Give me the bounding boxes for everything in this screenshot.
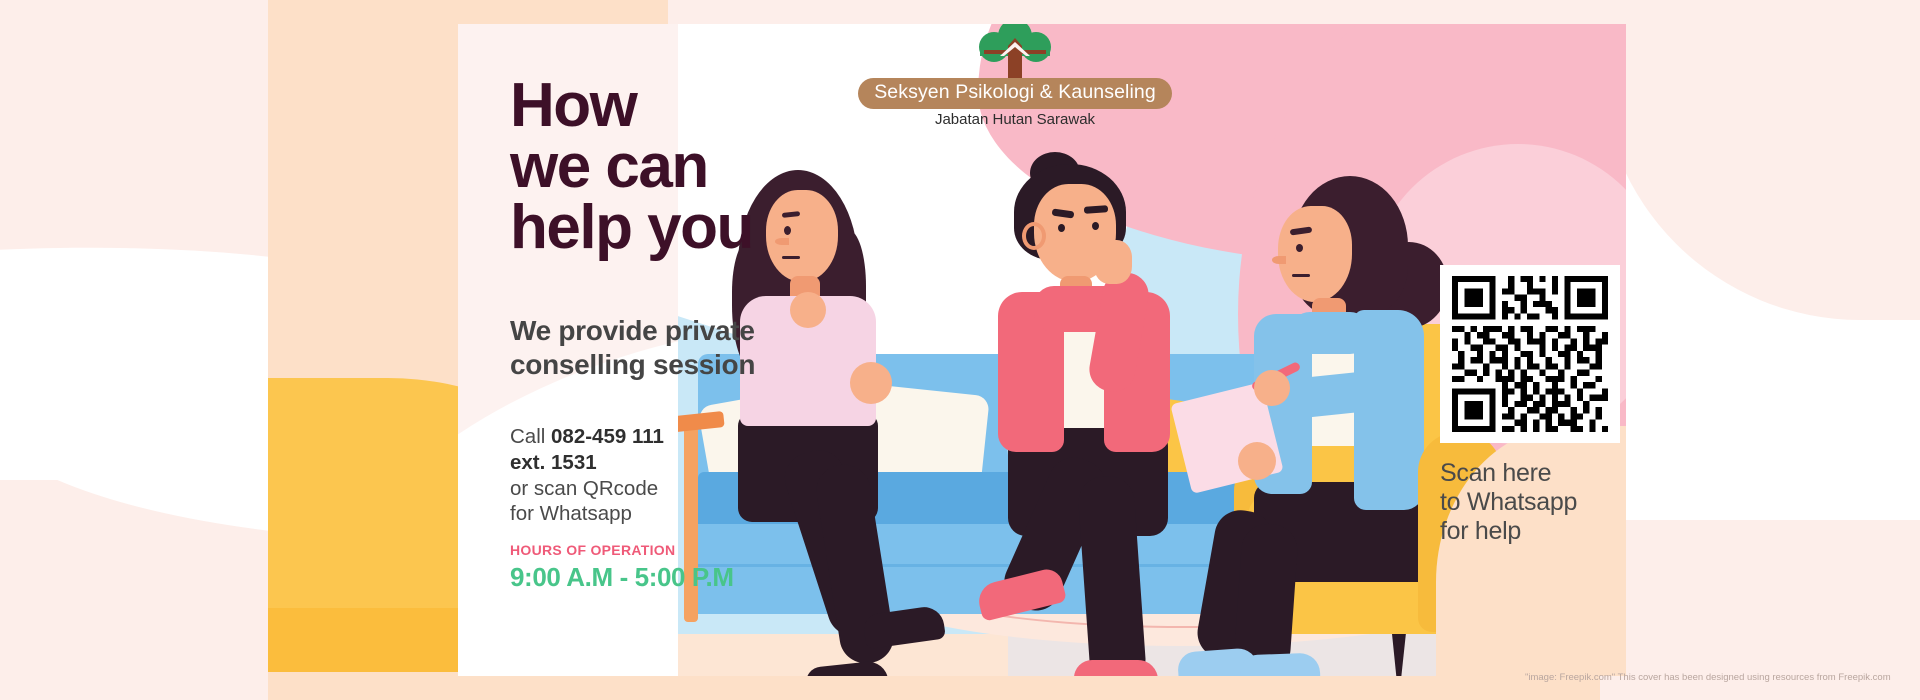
phone-extension: ext. 1531 — [510, 451, 597, 474]
organisation-logo: Seksyen Psikologi & Kaunseling Jabatan H… — [850, 24, 1180, 128]
client-man-eye — [1092, 222, 1099, 230]
background-peach-strip-bottom — [268, 672, 1628, 700]
scan-instruction: or scan QRcode — [510, 477, 658, 500]
counsellor-hand — [1254, 370, 1290, 406]
qr-panel: Scan here to Whatsapp for help — [1440, 265, 1640, 546]
image-credit: "image: Freepik.com" This cover has been… — [1525, 672, 1891, 683]
hours-label: HOURS OF OPERATION — [510, 542, 675, 558]
counsellor-hand — [1238, 442, 1276, 480]
whatsapp-instruction: for Whatsapp — [510, 502, 632, 525]
contact-block: Call 082-459 111 ext. 1531 or scan QRcod… — [510, 424, 790, 527]
page-title: How we can help you — [510, 76, 840, 258]
logo-banner-text: Seksyen Psikologi & Kaunseling — [858, 78, 1172, 109]
counsellor-cardigan-collar — [1290, 312, 1370, 354]
logo-subtitle: Jabatan Hutan Sarawak — [850, 111, 1180, 128]
client-man-eye — [1058, 224, 1065, 232]
client-man-hand — [1094, 240, 1132, 284]
left-text-column: How we can help you We provide private c… — [458, 24, 758, 676]
poster-canvas: Seksyen Psikologi & Kaunseling Jabatan H… — [0, 0, 1920, 700]
qr-caption: Scan here to Whatsapp for help — [1440, 459, 1640, 546]
client-woman-hand — [850, 362, 892, 404]
counsellor-eye — [1296, 244, 1303, 252]
hours-value: 9:00 A.M - 5:00 P.M — [510, 562, 734, 593]
tree-logo-icon — [850, 24, 1180, 78]
qr-code-icon[interactable] — [1440, 265, 1620, 443]
counsellor-face — [1278, 206, 1352, 302]
client-man-shoe — [1074, 660, 1158, 676]
counsellor-nose — [1272, 256, 1286, 264]
client-man-ear — [1022, 222, 1046, 250]
phone-number: 082-459 111 — [551, 425, 664, 448]
subheadline: We provide private conselling session — [510, 314, 820, 382]
call-label: Call — [510, 425, 551, 448]
counsellor-mouth — [1292, 274, 1310, 277]
counsellor-shoe — [1239, 653, 1320, 676]
